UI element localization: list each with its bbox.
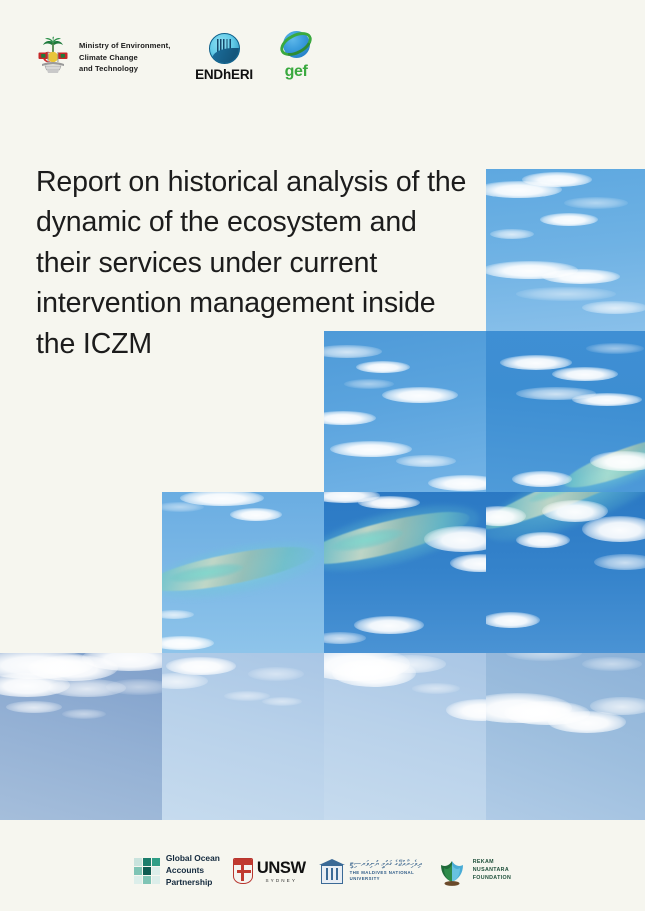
report-cover-page: Ministry of Environment, Climate Change …	[0, 0, 645, 911]
ministry-logo-text: Ministry of Environment, Climate Change …	[79, 37, 170, 75]
endheri-label: ENDhERI	[183, 67, 265, 82]
header-logo-row: Ministry of Environment, Climate Change …	[0, 0, 645, 110]
logo-gef: gef	[272, 30, 320, 80]
mosaic-tile-r4c3	[324, 653, 486, 820]
logo-maldives-national-university: ދިވެހިރާއްޖޭގެ ޤައުމީ ޔުނިވަރސިޓީ THE MA…	[319, 857, 422, 885]
mosaic-tile-r3c3	[324, 492, 486, 653]
goap-squares-icon	[134, 858, 160, 884]
rnf-leaf-icon	[435, 855, 469, 887]
unsw-sublabel: SYDNEY	[257, 878, 306, 883]
rnf-label: REKAM NUSANTARA FOUNDATION	[473, 859, 511, 883]
logo-global-ocean-accounts-partnership: Global Ocean Accounts Partnership	[134, 853, 220, 889]
logo-rekam-nusantara-foundation: REKAM NUSANTARA FOUNDATION	[435, 855, 511, 887]
unsw-label: UNSW	[257, 860, 306, 877]
maldives-coat-of-arms-icon	[36, 36, 70, 76]
mosaic-tile-r3c2	[162, 492, 324, 653]
footer-logo-row: Global Ocean Accounts Partnership UNSW S…	[0, 845, 645, 897]
mosaic-tile-r4c2	[162, 653, 324, 820]
mosaic-tile-r4c1	[0, 653, 162, 820]
mosaic-tile-r1c4	[486, 169, 645, 331]
mosaic-tile-r2c4	[486, 331, 645, 492]
logo-ministry-of-environment: Ministry of Environment, Climate Change …	[36, 36, 170, 76]
mnu-english-label: THE MALDIVES NATIONAL UNIVERSITY	[350, 870, 422, 882]
mosaic-tile-r3c4	[486, 492, 645, 653]
logo-endheri: ENDhERI	[183, 33, 265, 82]
unsw-shield-icon	[233, 858, 253, 884]
cream-overlay-row3-left	[0, 492, 162, 653]
gef-label: gef	[272, 64, 320, 80]
mnu-dhivehi-label: ދިވެހިރާއްޖޭގެ ޤައުމީ ޔުނިވަރސިޓީ	[350, 859, 422, 869]
gef-globe-icon	[279, 30, 313, 63]
goap-label: Global Ocean Accounts Partnership	[166, 853, 220, 889]
mnu-crest-icon	[319, 857, 345, 885]
report-title: Report on historical analysis of the dyn…	[36, 162, 476, 364]
mosaic-tile-r4c4	[486, 653, 645, 820]
logo-unsw-sydney: UNSW SYDNEY	[233, 858, 306, 884]
title-block: Report on historical analysis of the dyn…	[36, 162, 476, 364]
endheri-circle-icon	[209, 33, 240, 64]
